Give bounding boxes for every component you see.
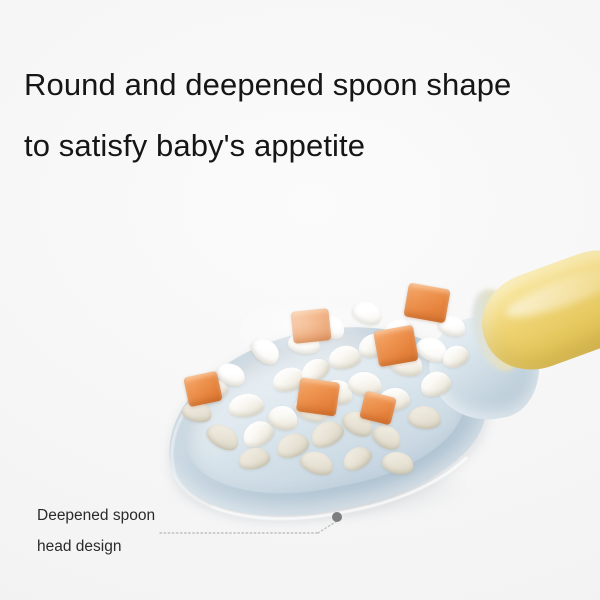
carrot-cube bbox=[296, 377, 340, 416]
rice-grain bbox=[417, 368, 454, 400]
caption-line-1: Deepened spoon bbox=[37, 500, 237, 531]
carrot-cube bbox=[290, 308, 331, 344]
rice-grain bbox=[326, 343, 362, 371]
carrot-cube bbox=[373, 325, 419, 367]
rice-grain bbox=[247, 333, 285, 370]
rice-grain bbox=[349, 298, 385, 329]
carrot-cube bbox=[183, 371, 222, 407]
rice-grain bbox=[227, 392, 266, 420]
annotation-caption: Deepened spoon head design bbox=[37, 500, 237, 562]
carrot-cube bbox=[403, 283, 450, 324]
caption-line-2: head design bbox=[37, 531, 237, 562]
leader-diagonal-segment bbox=[318, 521, 337, 533]
product-banner: Round and deepened spoon shape to satisf… bbox=[0, 0, 600, 600]
leader-endpoint-dot bbox=[332, 512, 342, 522]
rice-grain bbox=[407, 404, 442, 430]
